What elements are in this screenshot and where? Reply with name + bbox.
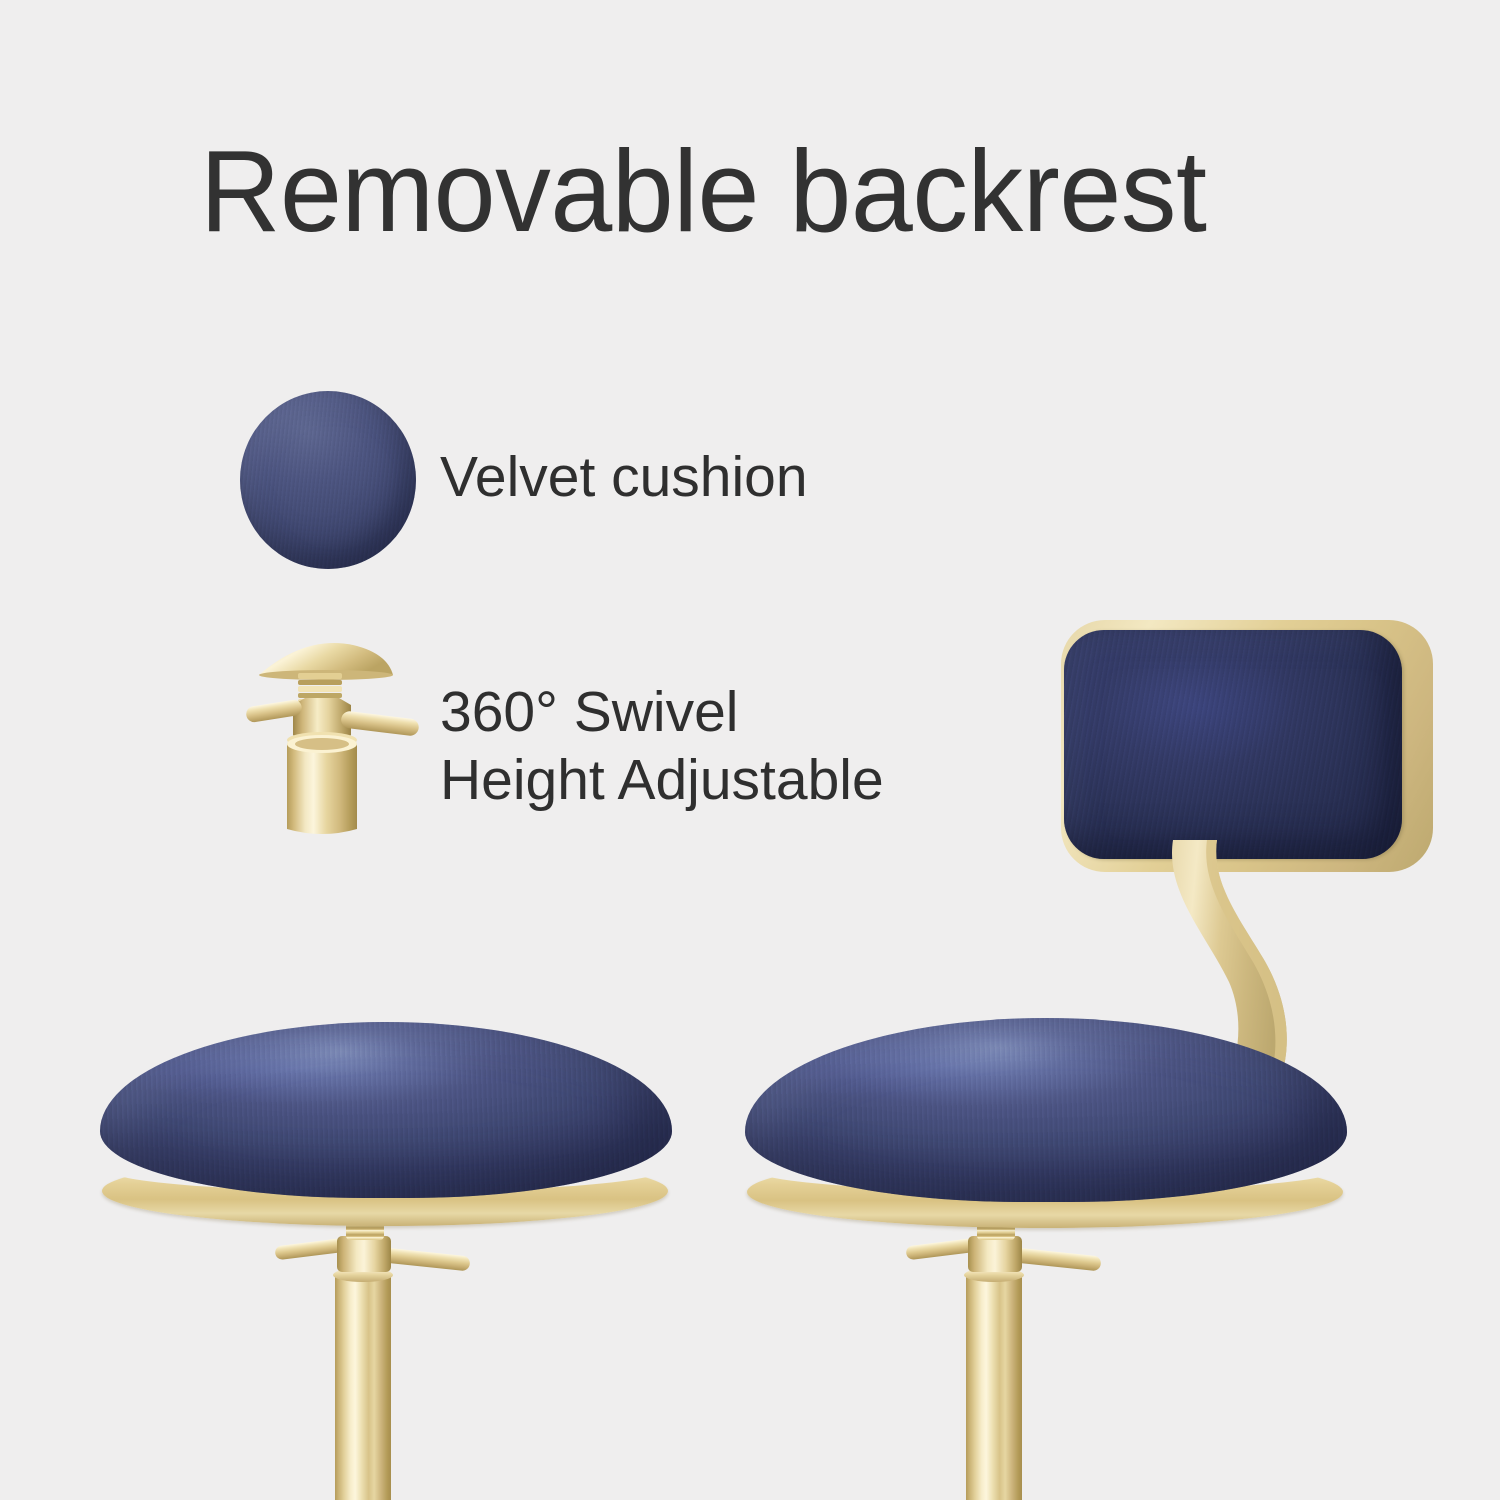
swivel-hex-nut	[968, 1236, 1022, 1272]
gold-column-right	[966, 1274, 1022, 1500]
feature-label-velvet-cushion: Velvet cushion	[440, 443, 808, 511]
velvet-swatch-circle-icon	[240, 391, 416, 569]
page-title: Removable backrest	[200, 131, 1314, 251]
swivel-hex-nut	[337, 1236, 391, 1272]
lever-right-arm[interactable]	[383, 1248, 470, 1272]
gold-column-left	[335, 1274, 391, 1500]
stool-with-backrest	[755, 604, 1445, 1500]
velvet-backrest-pad	[1064, 630, 1402, 859]
stool-backless	[88, 1016, 688, 1500]
lever-right-shape	[340, 710, 419, 736]
infographic-canvas: Removable backrest Velvet cushion	[0, 0, 1500, 1500]
removable-backrest[interactable]	[1061, 620, 1433, 872]
lever-right-arm[interactable]	[1014, 1248, 1101, 1272]
cylinder-base-shape	[287, 744, 357, 834]
swivel-mechanism-icon	[243, 643, 423, 839]
velvet-seat-cushion	[100, 1022, 672, 1198]
